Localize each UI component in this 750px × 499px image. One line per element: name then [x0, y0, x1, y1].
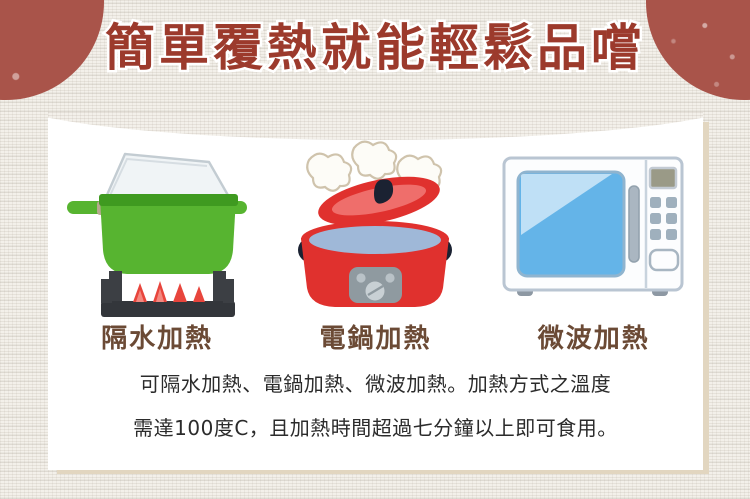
- green-pot-on-gas-stove-icon: [57, 140, 257, 330]
- instruction-line-2: 需達100度C，且加熱時間超過七分鐘以上即可食用。: [48, 406, 703, 450]
- poster-title-container: 簡單覆熱就能輕鬆品嚐: [0, 17, 750, 79]
- instruction-line-1: 可隔水加熱、電鍋加熱、微波加熱。加熱方式之溫度: [48, 362, 703, 406]
- microwave-door: [518, 172, 624, 276]
- stove-flames: [133, 281, 205, 302]
- microwave-start-button[interactable]: [650, 250, 678, 270]
- instruction-paragraph: 可隔水加熱、電鍋加熱、微波加熱。加熱方式之溫度 需達100度C，且加熱時間超過七…: [48, 362, 703, 450]
- red-rice-cooker-icon: [275, 140, 475, 330]
- method-illustration-rice-cooker: [275, 140, 475, 330]
- method-label-double-boiler: 隔水加熱: [57, 318, 257, 355]
- method-label-row: 隔水加熱 電鍋加熱 微波加熱: [48, 318, 703, 355]
- cooker-body: [298, 221, 452, 307]
- method-illustration-double-boiler: [57, 140, 257, 330]
- microwave-display: [650, 168, 676, 188]
- method-illustration-microwave: [494, 140, 694, 330]
- content-card: 隔水加熱 電鍋加熱 微波加熱 可隔水加熱、電鍋加熱、微波加熱。加熱方式之溫度 需…: [48, 112, 703, 470]
- method-label-microwave: 微波加熱: [494, 318, 694, 355]
- microwave-door-handle[interactable]: [629, 186, 639, 262]
- method-illustration-row: [48, 130, 703, 330]
- cooker-control-panel: [349, 267, 402, 303]
- pot-body: [99, 194, 238, 274]
- gas-stove: [101, 271, 235, 317]
- poster-root: 簡單覆熱就能輕鬆品嚐: [0, 0, 750, 499]
- microwave-oven-icon: [494, 140, 694, 330]
- poster-title: 簡單覆熱就能輕鬆品嚐: [105, 17, 645, 79]
- method-label-rice-cooker: 電鍋加熱: [275, 318, 475, 355]
